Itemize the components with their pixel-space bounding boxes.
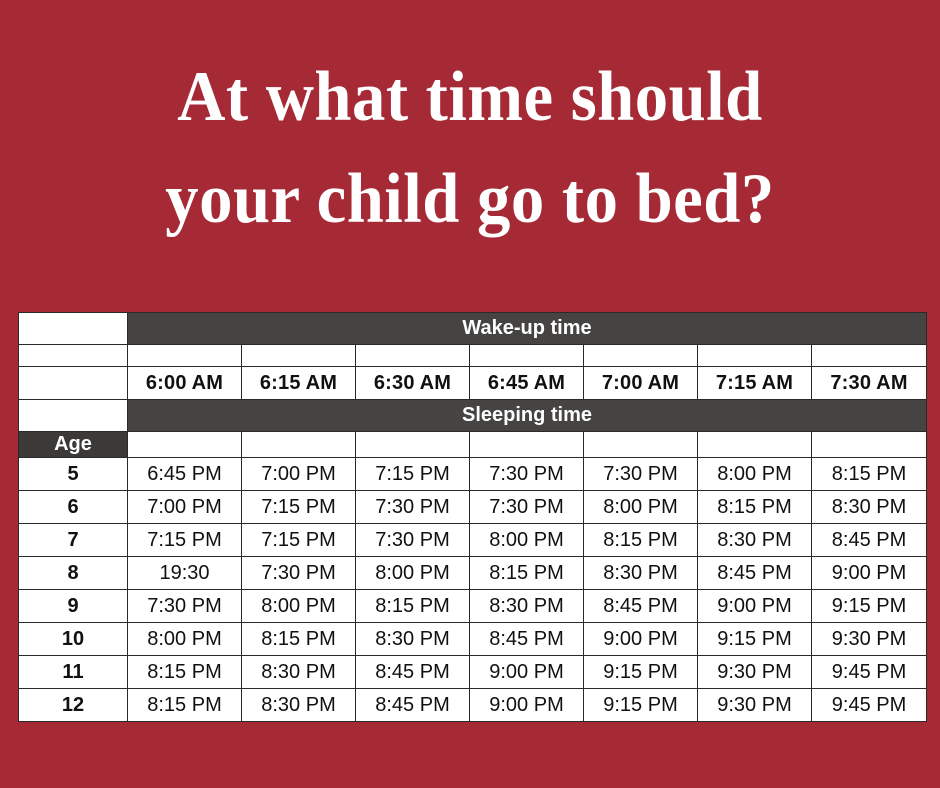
header-spacer-cell — [356, 432, 470, 458]
agecol-spacer — [19, 400, 128, 432]
bedtime-cell-age11-col2: 8:45 PM — [356, 656, 470, 689]
header-spacer-cell — [812, 432, 927, 458]
bedtime-cell-age8-col4: 8:30 PM — [584, 557, 698, 590]
bedtime-cell-age6-col3: 7:30 PM — [470, 491, 584, 524]
bedtime-cell-age8-col0: 19:30 — [128, 557, 242, 590]
bedtime-cell-age9-col2: 8:15 PM — [356, 590, 470, 623]
table-row: 118:15 PM8:30 PM8:45 PM9:00 PM9:15 PM9:3… — [19, 656, 927, 689]
age-header-row: Age — [19, 432, 927, 458]
bedtime-cell-age7-col0: 7:15 PM — [128, 524, 242, 557]
header-spacer-cell — [242, 345, 356, 367]
bedtime-cell-age7-col2: 7:30 PM — [356, 524, 470, 557]
wake-times-row: 6:00 AM6:15 AM6:30 AM6:45 AM7:00 AM7:15 … — [19, 367, 927, 400]
table-row: 819:307:30 PM8:00 PM8:15 PM8:30 PM8:45 P… — [19, 557, 927, 590]
table-row: 67:00 PM7:15 PM7:30 PM7:30 PM8:00 PM8:15… — [19, 491, 927, 524]
bedtime-cell-age10-col4: 9:00 PM — [584, 623, 698, 656]
agecol-spacer — [19, 367, 128, 400]
bedtime-cell-age6-col6: 8:30 PM — [812, 491, 927, 524]
header-spacer-cell — [584, 345, 698, 367]
bedtime-cell-age6-col5: 8:15 PM — [698, 491, 812, 524]
bedtime-cell-age5-col2: 7:15 PM — [356, 458, 470, 491]
agecol-spacer — [19, 313, 128, 345]
wake-time-header-6: 7:30 AM — [812, 367, 927, 400]
bedtime-cell-age12-col1: 8:30 PM — [242, 689, 356, 722]
sleep-band-label: Sleeping time — [128, 400, 927, 432]
bedtime-cell-age8-col1: 7:30 PM — [242, 557, 356, 590]
bedtime-cell-age9-col3: 8:30 PM — [470, 590, 584, 623]
wake-time-header-3: 6:45 AM — [470, 367, 584, 400]
bedtime-cell-age10-col1: 8:15 PM — [242, 623, 356, 656]
bedtime-cell-age9-col5: 9:00 PM — [698, 590, 812, 623]
bedtime-table: Wake-up time6:00 AM6:15 AM6:30 AM6:45 AM… — [18, 312, 927, 722]
bedtime-cell-age8-col5: 8:45 PM — [698, 557, 812, 590]
bedtime-cell-age12-col3: 9:00 PM — [470, 689, 584, 722]
bedtime-cell-age10-col5: 9:15 PM — [698, 623, 812, 656]
table-row: 128:15 PM8:30 PM8:45 PM9:00 PM9:15 PM9:3… — [19, 689, 927, 722]
bedtime-cell-age11-col3: 9:00 PM — [470, 656, 584, 689]
bedtime-cell-age8-col6: 9:00 PM — [812, 557, 927, 590]
bedtime-cell-age10-col6: 9:30 PM — [812, 623, 927, 656]
bedtime-cell-age12-col4: 9:15 PM — [584, 689, 698, 722]
wake-time-header-2: 6:30 AM — [356, 367, 470, 400]
header-spacer-cell — [356, 345, 470, 367]
bedtime-cell-age12-col2: 8:45 PM — [356, 689, 470, 722]
page-title-line-1: At what time should — [28, 46, 912, 148]
bedtime-cell-age12-col0: 8:15 PM — [128, 689, 242, 722]
table-row: 77:15 PM7:15 PM7:30 PM8:00 PM8:15 PM8:30… — [19, 524, 927, 557]
bedtime-cell-age10-col2: 8:30 PM — [356, 623, 470, 656]
age-value-10: 10 — [19, 623, 128, 656]
age-column-header: Age — [19, 432, 128, 458]
age-value-8: 8 — [19, 557, 128, 590]
table-row: 108:00 PM8:15 PM8:30 PM8:45 PM9:00 PM9:1… — [19, 623, 927, 656]
age-value-7: 7 — [19, 524, 128, 557]
bedtime-cell-age7-col3: 8:00 PM — [470, 524, 584, 557]
bedtime-cell-age11-col5: 9:30 PM — [698, 656, 812, 689]
header-spacer-row-top — [19, 345, 927, 367]
bedtime-cell-age10-col0: 8:00 PM — [128, 623, 242, 656]
bedtime-cell-age11-col0: 8:15 PM — [128, 656, 242, 689]
age-value-6: 6 — [19, 491, 128, 524]
bedtime-cell-age6-col1: 7:15 PM — [242, 491, 356, 524]
age-value-11: 11 — [19, 656, 128, 689]
header-spacer-cell — [698, 345, 812, 367]
bedtime-cell-age5-col5: 8:00 PM — [698, 458, 812, 491]
bedtime-cell-age7-col4: 8:15 PM — [584, 524, 698, 557]
wake-time-header-5: 7:15 AM — [698, 367, 812, 400]
header-spacer-cell — [242, 432, 356, 458]
bedtime-cell-age8-col3: 8:15 PM — [470, 557, 584, 590]
header-spacer-cell — [812, 345, 927, 367]
sleep-band-row: Sleeping time — [19, 400, 927, 432]
bedtime-cell-age8-col2: 8:00 PM — [356, 557, 470, 590]
bedtime-table-container: Wake-up time6:00 AM6:15 AM6:30 AM6:45 AM… — [0, 312, 940, 742]
bedtime-cell-age7-col1: 7:15 PM — [242, 524, 356, 557]
page-title-line-2: your child go to bed? — [28, 148, 912, 250]
header-spacer-cell — [470, 345, 584, 367]
bedtime-cell-age12-col6: 9:45 PM — [812, 689, 927, 722]
age-value-12: 12 — [19, 689, 128, 722]
header-spacer-cell — [470, 432, 584, 458]
bedtime-cell-age7-col5: 8:30 PM — [698, 524, 812, 557]
age-value-9: 9 — [19, 590, 128, 623]
infographic-page: { "theme": { "background": "#A52A35", "b… — [0, 0, 940, 788]
wake-time-header-0: 6:00 AM — [128, 367, 242, 400]
bedtime-cell-age12-col5: 9:30 PM — [698, 689, 812, 722]
bedtime-cell-age5-col0: 6:45 PM — [128, 458, 242, 491]
bedtime-cell-age9-col0: 7:30 PM — [128, 590, 242, 623]
bedtime-cell-age11-col1: 8:30 PM — [242, 656, 356, 689]
bedtime-cell-age10-col3: 8:45 PM — [470, 623, 584, 656]
bedtime-cell-age11-col6: 9:45 PM — [812, 656, 927, 689]
bedtime-cell-age7-col6: 8:45 PM — [812, 524, 927, 557]
page-title: At what time should your child go to bed… — [0, 0, 940, 250]
header-spacer-cell — [698, 432, 812, 458]
bedtime-cell-age9-col1: 8:00 PM — [242, 590, 356, 623]
bedtime-cell-age6-col2: 7:30 PM — [356, 491, 470, 524]
header-spacer-cell — [584, 432, 698, 458]
bedtime-cell-age6-col0: 7:00 PM — [128, 491, 242, 524]
bedtime-cell-age11-col4: 9:15 PM — [584, 656, 698, 689]
agecol-spacer — [19, 345, 128, 367]
bedtime-cell-age5-col4: 7:30 PM — [584, 458, 698, 491]
table-row: 97:30 PM8:00 PM8:15 PM8:30 PM8:45 PM9:00… — [19, 590, 927, 623]
wake-band-label: Wake-up time — [128, 313, 927, 345]
wake-band-row: Wake-up time — [19, 313, 927, 345]
bedtime-cell-age5-col1: 7:00 PM — [242, 458, 356, 491]
wake-time-header-4: 7:00 AM — [584, 367, 698, 400]
wake-time-header-1: 6:15 AM — [242, 367, 356, 400]
header-spacer-cell — [128, 432, 242, 458]
header-spacer-cell — [128, 345, 242, 367]
table-row: 56:45 PM7:00 PM7:15 PM7:30 PM7:30 PM8:00… — [19, 458, 927, 491]
bedtime-cell-age6-col4: 8:00 PM — [584, 491, 698, 524]
bedtime-cell-age5-col3: 7:30 PM — [470, 458, 584, 491]
bedtime-cell-age9-col4: 8:45 PM — [584, 590, 698, 623]
age-value-5: 5 — [19, 458, 128, 491]
bedtime-cell-age9-col6: 9:15 PM — [812, 590, 927, 623]
bedtime-cell-age5-col6: 8:15 PM — [812, 458, 927, 491]
